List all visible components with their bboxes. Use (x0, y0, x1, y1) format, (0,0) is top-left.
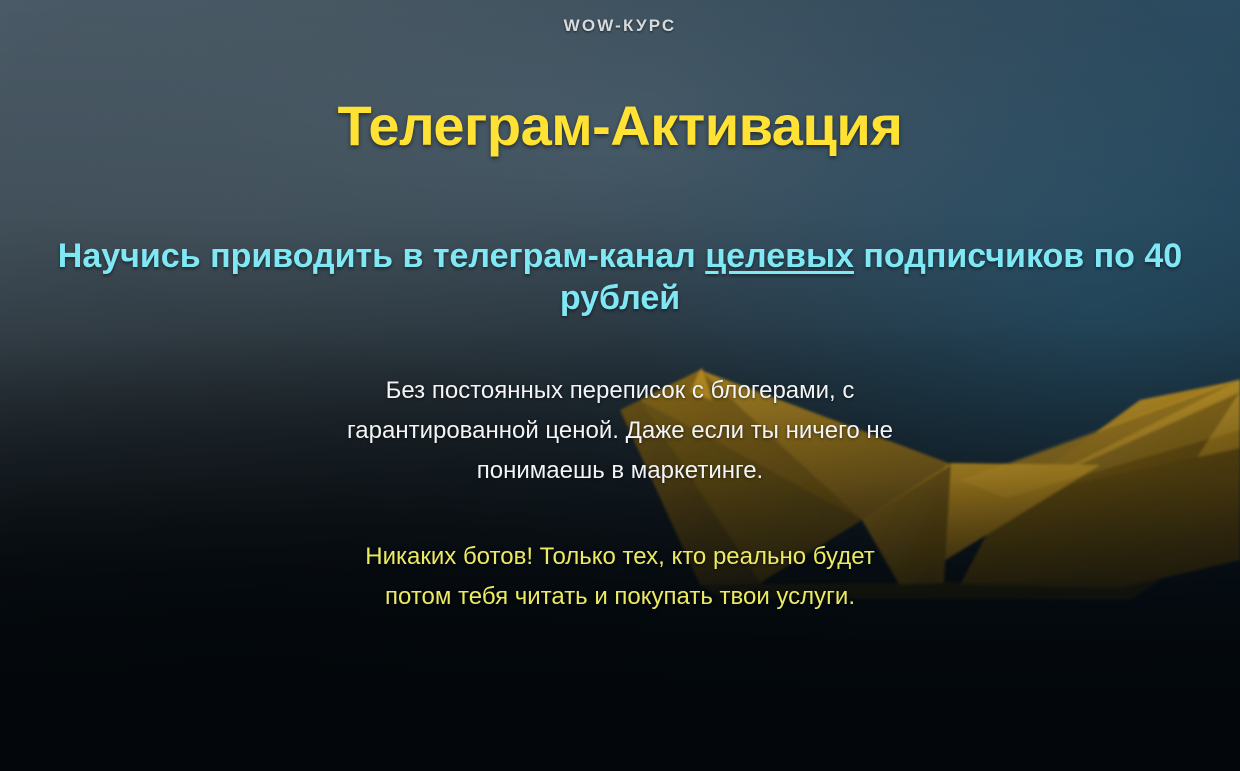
page-title: Телеграм-Активация (0, 34, 1240, 156)
subtitle-part-1: Научись приводить в телеграм-канал (58, 237, 705, 275)
hero-body-text: Без постоянных переписок с блогерами, с … (340, 319, 900, 490)
slide-content: WOW-КУРС Телеграм-Активация Научись прив… (0, 0, 1240, 771)
brand-label: WOW-КУРС (0, 0, 1240, 34)
slide-root: WOW-КУРС Телеграм-Активация Научись прив… (0, 0, 1240, 771)
hero-subtitle: Научись приводить в телеграм-канал целев… (20, 156, 1220, 319)
subtitle-highlight-targeted: целевых (705, 237, 854, 275)
hero-accent-text: Никаких ботов! Только тех, кто реально б… (340, 491, 900, 618)
